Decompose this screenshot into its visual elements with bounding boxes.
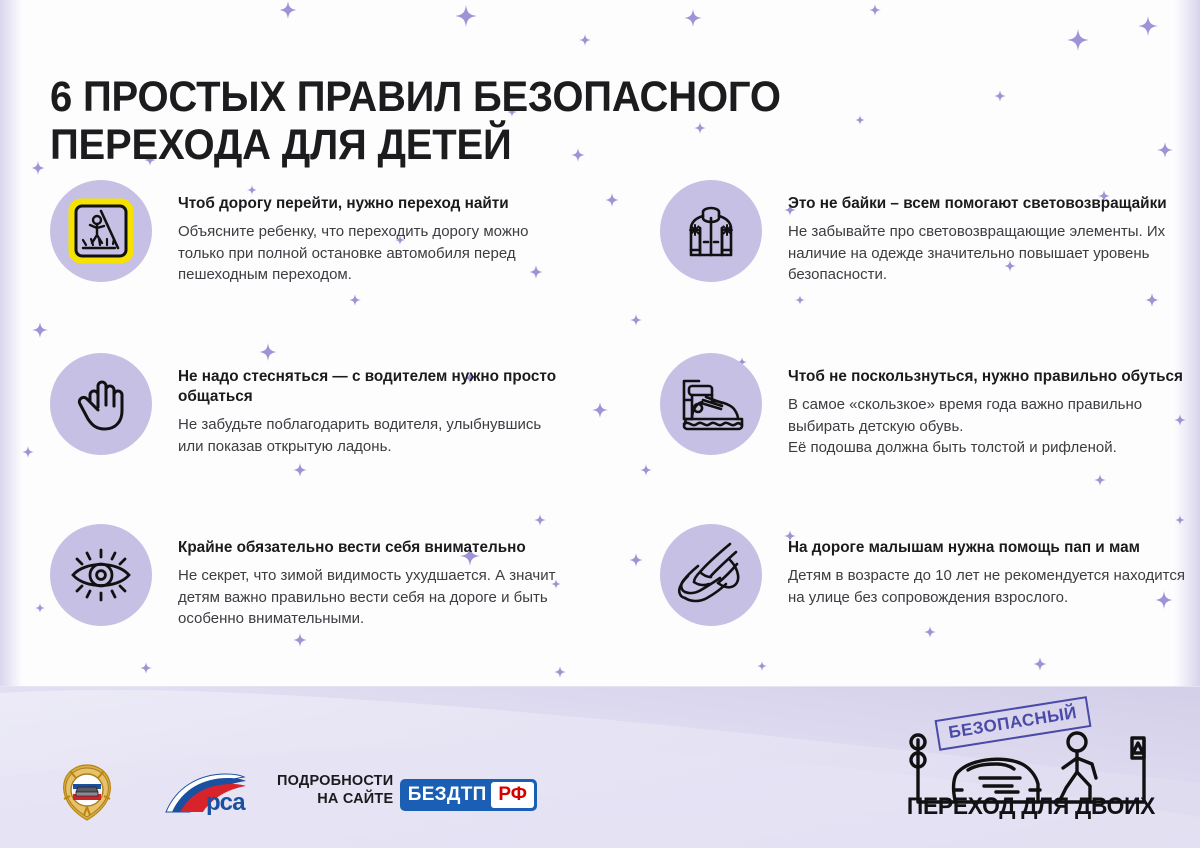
rule-title: Не надо стесняться — с водителем нужно п… — [178, 367, 570, 407]
rule-text-block: Не надо стесняться — с водителем нужно п… — [178, 353, 570, 457]
campaign-label: ПЕРЕХОД ДЛЯ ДВОИХ — [907, 793, 1156, 821]
rule-body: Не забывайте про световозвращающие элеме… — [788, 221, 1190, 285]
sparkle-icon — [1157, 142, 1173, 158]
sparkle-icon — [855, 115, 865, 125]
sparkle-icon — [592, 402, 608, 418]
bezdtp-main-text: БЕЗДТП — [403, 784, 491, 806]
rule-title: Крайне обязательно вести себя внимательн… — [178, 538, 570, 558]
site-note: ПОДРОБНОСТИ НА САЙТЕ — [277, 772, 393, 808]
rule-body: Детям в возрасте до 10 лет не рекомендуе… — [788, 565, 1190, 608]
sparkle-icon — [554, 666, 566, 678]
rule-text-block: Это не байки – всем помогают световозвра… — [788, 180, 1190, 286]
sparkle-icon — [757, 661, 767, 671]
sparkle-icon — [605, 193, 619, 207]
reflective-jacket-icon — [660, 180, 762, 282]
holding-hands-icon — [660, 524, 762, 626]
sparkle-icon — [994, 90, 1006, 102]
sparkle-icon — [869, 4, 881, 16]
sparkle-icon — [293, 463, 307, 477]
sparkle-icon — [579, 34, 591, 46]
rule-title: Чтоб дорогу перейти, нужно переход найти — [178, 194, 570, 214]
bezdtp-rf-badge[interactable]: БЕЗДТП РФ — [400, 779, 537, 811]
sparkle-icon — [455, 5, 477, 27]
rsa-logo: рса — [162, 768, 266, 818]
sparkle-icon — [349, 294, 361, 306]
pedestrian-crossing-sign-icon — [50, 180, 152, 282]
bezdtp-domain-text: РФ — [491, 782, 534, 808]
rule-card-reflectors: Это не байки – всем помогают световозвра… — [660, 180, 1190, 286]
rule-body: В самое «скользкое» время года важно пра… — [788, 394, 1190, 458]
sparkle-icon — [22, 446, 34, 458]
rule-body: Не секрет, что зимой видимость ухудшаетс… — [178, 565, 570, 629]
sparkle-icon — [35, 603, 45, 613]
site-note-line-1: ПОДРОБНОСТИ — [277, 772, 393, 790]
rule-card-communicate: Не надо стесняться — с водителем нужно п… — [50, 353, 570, 457]
sparkle-icon — [279, 1, 297, 19]
rule-card-attentive: Крайне обязательно вести себя внимательн… — [50, 524, 570, 630]
rule-text-block: На дороге малышам нужна помощь пап и мам… — [788, 524, 1190, 608]
rule-text-block: Чтоб не поскользнуться, нужно правильно … — [788, 353, 1190, 459]
sparkle-icon — [1094, 474, 1106, 486]
rule-body: Объясните ребенку, что переходить дорогу… — [178, 221, 570, 285]
gibdd-emblem-logo — [54, 759, 120, 825]
sparkle-icon — [924, 626, 936, 638]
sparkle-icon — [640, 464, 652, 476]
rule-card-footwear: Чтоб не поскользнуться, нужно правильно … — [660, 353, 1190, 459]
sparkle-icon — [293, 633, 307, 647]
rule-card-crossing: Чтоб дорогу перейти, нужно переход найти… — [50, 180, 570, 286]
page-title-line-1: 6 ПРОСТЫХ ПРАВИЛ БЕЗОПАСНОГО — [50, 73, 775, 121]
rule-text-block: Крайне обязательно вести себя внимательн… — [178, 524, 570, 630]
footer-divider — [0, 686, 1200, 687]
sparkle-icon — [140, 662, 152, 674]
page-title-line-2: ПЕРЕХОДА ДЛЯ ДЕТЕЙ — [50, 121, 775, 169]
sparkle-icon — [629, 553, 643, 567]
sparkle-icon — [31, 161, 45, 175]
winter-boot-icon — [660, 353, 762, 455]
svg-text:рса: рса — [206, 789, 246, 816]
site-note-line-2: НА САЙТЕ — [277, 790, 393, 808]
eye-icon — [50, 524, 152, 626]
rule-body: Не забудьте поблагодарить водителя, улыб… — [178, 414, 570, 457]
rule-title: На дороге малышам нужна помощь пап и мам — [788, 538, 1190, 558]
page-title: 6 ПРОСТЫХ ПРАВИЛ БЕЗОПАСНОГО ПЕРЕХОДА ДЛ… — [50, 73, 775, 169]
sparkle-icon — [1138, 16, 1158, 36]
sparkle-icon — [1067, 29, 1089, 51]
rule-title: Это не байки – всем помогают световозвра… — [788, 194, 1190, 214]
open-palm-hand-icon — [50, 353, 152, 455]
sparkle-icon — [32, 322, 48, 338]
sparkle-icon — [684, 9, 702, 27]
rule-text-block: Чтоб дорогу перейти, нужно переход найти… — [178, 180, 570, 286]
sparkle-icon — [630, 314, 642, 326]
sparkle-icon — [795, 295, 805, 305]
sparkle-icon — [1145, 293, 1159, 307]
sparkle-icon — [1033, 657, 1047, 671]
infographic-poster: 6 ПРОСТЫХ ПРАВИЛ БЕЗОПАСНОГО ПЕРЕХОДА ДЛ… — [0, 0, 1200, 848]
rule-card-parents: На дороге малышам нужна помощь пап и мам… — [660, 524, 1190, 626]
rule-title: Чтоб не поскользнуться, нужно правильно … — [788, 367, 1190, 387]
